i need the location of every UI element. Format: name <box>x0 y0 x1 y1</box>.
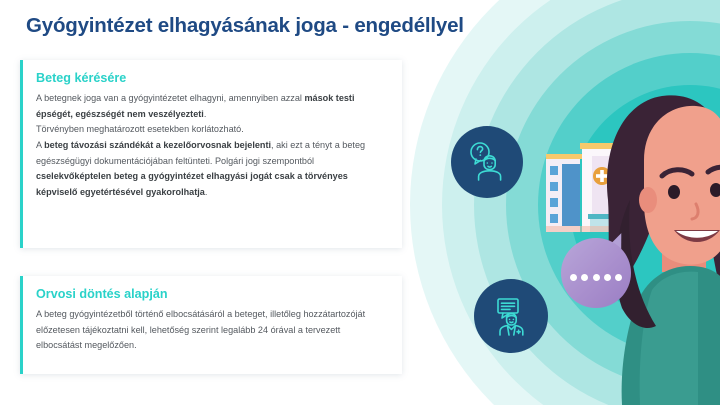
content-card-orvosi-dontes: Orvosi döntés alapján A beteg gyógyintéz… <box>20 276 402 374</box>
card-heading: Orvosi döntés alapján <box>36 287 388 302</box>
speech-bubble-body <box>561 238 631 308</box>
dot-2 <box>581 274 588 281</box>
patient-question-badge <box>451 126 523 198</box>
speech-bubble-tail <box>604 230 628 256</box>
card-body: A beteg gyógyintézetből történő elbocsát… <box>36 307 388 354</box>
ring-6 <box>570 85 720 325</box>
patient-question-icon <box>464 139 510 185</box>
dot-5 <box>615 274 622 281</box>
hospital-building-illustration <box>546 140 676 232</box>
dot-3 <box>593 274 600 281</box>
doctor-message-badge <box>474 279 548 353</box>
ring-4 <box>506 21 720 389</box>
doctor-message-icon <box>487 292 535 340</box>
woman-character-illustration <box>600 80 720 405</box>
slide: Gyógyintézet elhagyásának joga - engedél… <box>0 0 720 405</box>
ring-2 <box>442 0 720 405</box>
ring-3 <box>474 0 720 405</box>
speech-bubble-dots <box>570 274 622 281</box>
ring-5 <box>538 53 720 357</box>
purple-speech-bubble <box>561 232 637 308</box>
dot-1 <box>570 274 577 281</box>
card-body: A betegnek joga van a gyógyintézetet elh… <box>36 91 388 200</box>
page-title: Gyógyintézet elhagyásának joga - engedél… <box>26 14 464 38</box>
dot-4 <box>604 274 611 281</box>
content-card-beteg-keresere: Beteg kérésére A betegnek joga van a gyó… <box>20 60 402 248</box>
ring-1 <box>410 0 720 405</box>
card-heading: Beteg kérésére <box>36 71 388 86</box>
